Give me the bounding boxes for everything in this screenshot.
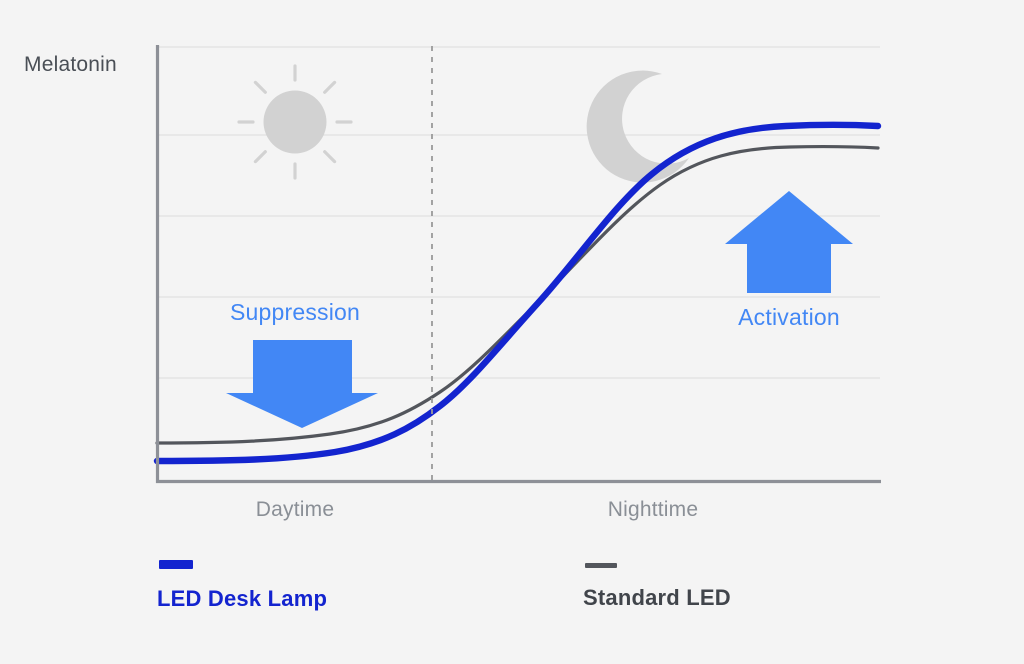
legend-swatch-standard-led xyxy=(585,563,617,568)
melatonin-chart: Melatonin xyxy=(0,0,1024,664)
annotation-label-suppression: Suppression xyxy=(230,299,360,326)
suppression-down-arrow-icon xyxy=(226,340,378,428)
activation-up-arrow-icon xyxy=(725,191,853,293)
legend-item-standard-led[interactable]: Standard LED xyxy=(583,560,731,611)
x-tick-label-nighttime: Nighttime xyxy=(608,498,699,522)
legend-item-led-desk-lamp[interactable]: LED Desk Lamp xyxy=(157,560,327,612)
moon-icon xyxy=(587,71,689,183)
legend-label-standard-led: Standard LED xyxy=(583,585,731,611)
x-tick-label-daytime: Daytime xyxy=(256,498,334,522)
sun-icon xyxy=(239,66,351,178)
legend-label-led-desk-lamp: LED Desk Lamp xyxy=(157,586,327,612)
legend: LED Desk Lamp Standard LED xyxy=(157,560,917,630)
legend-swatch-led-desk-lamp xyxy=(159,560,193,569)
annotation-label-activation: Activation xyxy=(738,304,840,331)
